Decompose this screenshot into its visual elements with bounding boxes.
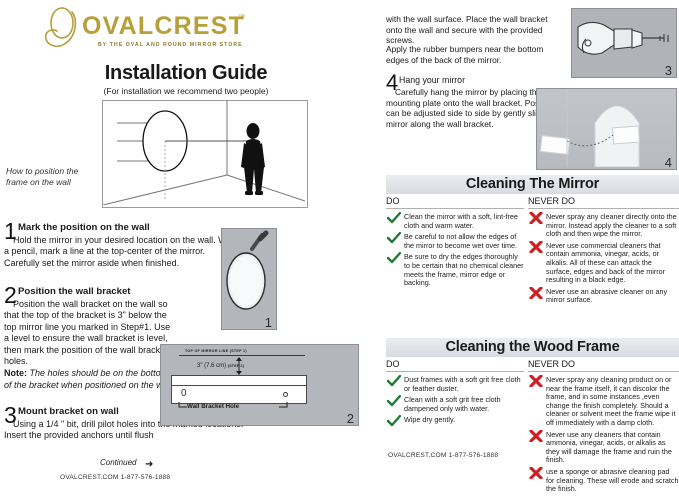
footer-right: OVALCREST.COM 1-877-576-1888 <box>388 452 498 459</box>
step-2-note: Note: The holes should be on the bottom … <box>4 368 176 391</box>
list-item: Never spray any cleaning product on or n… <box>528 376 679 428</box>
list-item-text: Never use an abrasive cleaner on any mir… <box>546 287 667 305</box>
panel-drill-photo: 3 <box>571 8 677 78</box>
list-item: Never spray any cleaner directly onto th… <box>528 213 679 239</box>
list-item: Never use any cleaners that contain ammo… <box>528 431 679 465</box>
diagram-caption: How to position the frame on the wall <box>6 166 98 188</box>
installation-guide-page: OVALCREST ™ BY THE OVAL AND ROUND MIRROR… <box>0 0 679 489</box>
cross-icon <box>529 241 543 253</box>
panel-wall-bracket-diagram: TOP OF MIRROR LINE (STEP 1) 3" (7.6 cm) … <box>160 344 359 426</box>
left-column: OVALCREST ™ BY THE OVAL AND ROUND MIRROR… <box>0 0 372 489</box>
room-position-diagram <box>102 100 308 208</box>
check-icon <box>387 252 401 264</box>
panel-4-number: 4 <box>665 155 672 170</box>
check-icon <box>387 232 401 244</box>
panel-hanging-mirror-photo: 4 <box>536 88 677 170</box>
bracket-hole-right-icon <box>283 392 288 397</box>
list-item-text: Clean the mirror with a soft, lint-free … <box>404 212 518 230</box>
step-2-heading: Position the wall bracket <box>18 286 176 298</box>
step-3-number: 3 <box>4 406 17 425</box>
frame-never-title: NEVER DO <box>528 359 679 372</box>
check-icon <box>387 415 401 427</box>
list-item-text: Wipe dry gently. <box>404 415 455 424</box>
mirror-do-column: DO Clean the mirror with a soft, lint-fr… <box>386 196 524 291</box>
step-1: 1 Mark the position on the wall Hold the… <box>4 222 240 269</box>
check-icon <box>387 395 401 407</box>
panel-3-number: 3 <box>665 63 672 78</box>
step-1-body: Hold the mirror in your desired location… <box>4 235 240 269</box>
list-item-text: Never spray any cleaner directly onto th… <box>546 212 677 238</box>
continued-label: Continued <box>100 458 136 467</box>
step-1-text: Hold the mirror in your desired location… <box>4 235 236 268</box>
panel-1-number: 1 <box>265 315 272 330</box>
list-item: Wipe dry gently. <box>386 416 524 425</box>
list-item-text: Be careful to not allow the edges of the… <box>404 232 517 250</box>
step-2-text: Position the wall bracket on the wall so… <box>4 299 170 366</box>
list-item-text: Never spray any cleaning product on or n… <box>546 375 675 427</box>
list-item: Never use commercial cleaners that conta… <box>528 242 679 285</box>
right-paragraph-2: Apply the rubber bumpers near the bottom… <box>386 44 564 65</box>
mirror-never-column: NEVER DO Never spray any cleaner directl… <box>528 196 679 308</box>
step-1-number: 1 <box>4 222 17 241</box>
step-4-heading: Hang your mirror <box>399 74 571 86</box>
check-icon <box>387 375 401 387</box>
bracket-top-label: TOP OF MIRROR LINE (STEP 1) <box>185 349 247 353</box>
room-perspective-svg <box>103 101 305 205</box>
step-1-heading: Mark the position on the wall <box>18 222 240 234</box>
section-cleaning-wood-frame: Cleaning the Wood Frame DO Dust frames w… <box>386 338 679 469</box>
trademark-symbol: ™ <box>238 14 245 21</box>
bracket-dimension-value: 3" (7.6 cm) <box>197 363 226 369</box>
step-2-note-label: Note: <box>4 368 27 378</box>
right-column: with the wall surface. Place the wall br… <box>386 0 679 489</box>
brand-logo: OVALCREST ™ BY THE OVAL AND ROUND MIRROR… <box>42 6 262 54</box>
cross-icon <box>529 212 543 224</box>
cross-icon <box>529 467 543 479</box>
step-4-number: 4 <box>386 74 398 92</box>
frame-do-title: DO <box>386 359 524 372</box>
step-2-note-text: The holes should be on the bottom of the… <box>4 368 174 389</box>
cross-icon <box>529 287 543 299</box>
cross-icon <box>529 430 543 442</box>
brand-tagline: BY THE OVAL AND ROUND MIRROR STORE <box>98 42 243 48</box>
list-item: Be sure to dry the edges thoroughly to b… <box>386 253 524 287</box>
page-title: Installation Guide <box>0 62 372 85</box>
bracket-dimension-step: (STEP 2) <box>228 364 244 368</box>
list-item-text: use a sponge or abrasive cleaning pad fo… <box>546 467 679 493</box>
footer-left: OVALCREST.COM 1-877-576-1888 <box>60 474 170 481</box>
list-item: Clean the mirror with a soft, lint-free … <box>386 213 524 230</box>
section-frame-title: Cleaning the Wood Frame <box>386 338 679 357</box>
section-mirror-header: Cleaning The Mirror <box>386 175 679 194</box>
bracket-dimension: 3" (7.6 cm) (STEP 2) <box>197 363 244 369</box>
drill-illustration <box>572 9 674 75</box>
bracket-caption: Wall Bracket Hole <box>187 403 239 410</box>
section-frame-header: Cleaning the Wood Frame <box>386 338 679 357</box>
list-item: Dust frames with a soft grit free cloth … <box>386 376 524 393</box>
oval-mirror-illustration <box>222 229 274 327</box>
list-item: Clean with a soft grit free cloth dampen… <box>386 396 524 413</box>
list-item: Never use an abrasive cleaner on any mir… <box>528 288 679 305</box>
step-2-body: Position the wall bracket on the wall so… <box>4 299 176 367</box>
list-item: use a sponge or abrasive cleaning pad fo… <box>528 468 679 494</box>
continued-arrow-icon: ➜ <box>145 459 153 470</box>
step-2: 2 Position the wall bracket Position the… <box>4 286 176 391</box>
list-item-text: Never use any cleaners that contain ammo… <box>546 430 672 465</box>
check-icon <box>387 212 401 224</box>
list-item-text: Clean with a soft grit free cloth dampen… <box>404 395 501 413</box>
section-mirror-title: Cleaning The Mirror <box>386 175 679 194</box>
panel-oval-mirror-photo: 1 <box>221 228 277 330</box>
section-cleaning-mirror: Cleaning The Mirror DO Clean the mirror … <box>386 175 679 336</box>
page-subtitle: (For installation we recommend two peopl… <box>0 86 372 96</box>
mirror-never-title: NEVER DO <box>528 196 679 209</box>
hanging-mirror-illustration <box>537 89 674 167</box>
frame-do-column: DO Dust frames with a soft grit free clo… <box>386 359 524 428</box>
cross-icon <box>529 375 543 387</box>
mirror-do-title: DO <box>386 196 524 209</box>
step-2-number: 2 <box>4 286 17 305</box>
list-item-text: Never use commercial cleaners that conta… <box>546 241 665 284</box>
list-item: Be careful to not allow the edges of the… <box>386 233 524 250</box>
list-item-text: Dust frames with a soft grit free cloth … <box>404 375 521 393</box>
frame-never-column: NEVER DO Never spray any cleaning produc… <box>528 359 679 497</box>
bracket-hole-left-icon: 0 <box>181 388 187 399</box>
list-item-text: Be sure to dry the edges thoroughly to b… <box>404 252 523 287</box>
right-paragraph-1: with the wall surface. Place the wall br… <box>386 14 564 46</box>
panel-2-number: 2 <box>347 411 354 426</box>
brand-wordmark: OVALCREST <box>82 12 245 41</box>
